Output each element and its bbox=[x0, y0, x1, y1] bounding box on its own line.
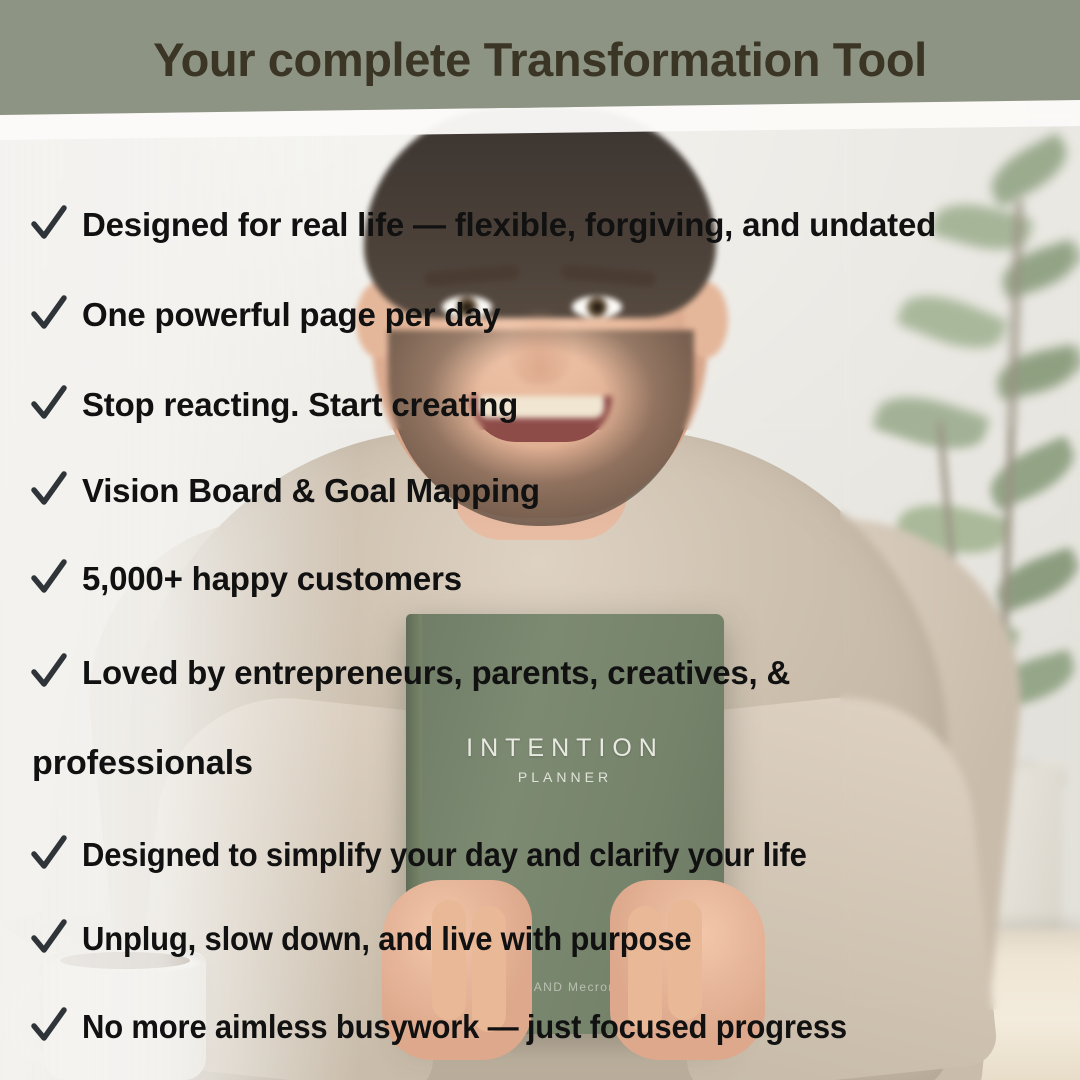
check-icon bbox=[30, 292, 68, 336]
check-icon bbox=[30, 832, 68, 876]
check-icon bbox=[30, 916, 68, 960]
list-item-label: Loved by entrepreneurs, parents, creativ… bbox=[82, 654, 790, 693]
list-item: 5,000+ happy customers bbox=[30, 560, 462, 604]
promo-image: INTENTION PLANNER PLAND Mecror Your comp… bbox=[0, 0, 1080, 1080]
benefits-checklist: Designed for real life — flexible, forgi… bbox=[0, 0, 1080, 1080]
check-icon bbox=[30, 1004, 68, 1048]
list-item-label-wrapped: professionals bbox=[32, 744, 253, 783]
list-item: One powerful page per day bbox=[30, 296, 501, 340]
list-item: No more aimless busywork — just focused … bbox=[30, 1008, 896, 1052]
list-item-label: Vision Board & Goal Mapping bbox=[82, 472, 540, 511]
list-item: Designed to simplify your day and clarif… bbox=[30, 836, 853, 880]
check-icon bbox=[30, 468, 68, 512]
list-item: Unplug, slow down, and live with purpose bbox=[30, 920, 730, 964]
list-item: Loved by entrepreneurs, parents, creativ… bbox=[30, 654, 790, 698]
check-icon bbox=[30, 202, 68, 246]
list-item-label: One powerful page per day bbox=[82, 296, 501, 335]
list-item-label: 5,000+ happy customers bbox=[82, 560, 462, 599]
list-item-label: No more aimless busywork — just focused … bbox=[82, 1008, 847, 1047]
list-item: Vision Board & Goal Mapping bbox=[30, 472, 540, 516]
check-icon bbox=[30, 650, 68, 694]
check-icon bbox=[30, 382, 68, 426]
list-item-label: Designed to simplify your day and clarif… bbox=[82, 836, 807, 875]
list-item: Stop reacting. Start creating bbox=[30, 386, 518, 430]
list-item: Designed for real life — flexible, forgi… bbox=[30, 206, 936, 250]
list-item-label: Stop reacting. Start creating bbox=[82, 386, 518, 425]
list-item-label: Designed for real life — flexible, forgi… bbox=[82, 206, 936, 245]
check-icon bbox=[30, 556, 68, 600]
list-item-label: Unplug, slow down, and live with purpose bbox=[82, 920, 691, 959]
